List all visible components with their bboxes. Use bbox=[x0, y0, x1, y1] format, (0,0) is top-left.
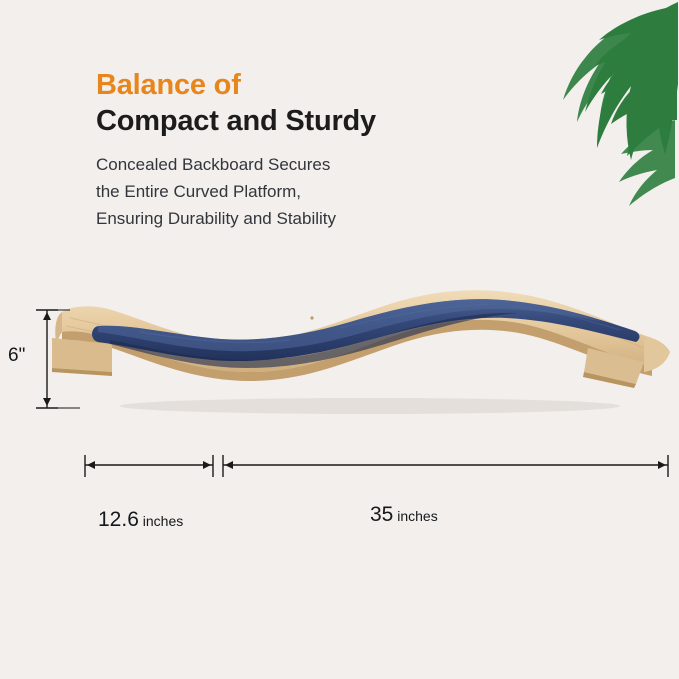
dimension-height-label: 6" bbox=[8, 345, 25, 367]
subheadline: Concealed Backboard Secures the Entire C… bbox=[96, 152, 516, 233]
dimension-depth-value: 12.6 bbox=[98, 508, 139, 531]
headline: Balance of Compact and Sturdy bbox=[96, 68, 526, 138]
dimension-depth-unit: inches bbox=[139, 513, 183, 529]
subheadline-line-2: the Entire Curved Platform, bbox=[96, 179, 516, 206]
subheadline-line-3: Ensuring Durability and Stability bbox=[96, 206, 516, 233]
headline-line-2: Compact and Sturdy bbox=[96, 104, 526, 138]
screw-icon bbox=[310, 316, 313, 319]
headline-line-1: Balance of bbox=[96, 68, 526, 102]
subheadline-line-1: Concealed Backboard Secures bbox=[96, 152, 516, 179]
dimension-width-unit: inches bbox=[393, 508, 437, 524]
dimension-depth-label: 12.6 inches bbox=[98, 508, 183, 532]
promo-image: Balance of Compact and Sturdy Concealed … bbox=[0, 0, 679, 679]
dimension-width-value: 35 bbox=[370, 503, 393, 526]
product-illustration bbox=[40, 280, 679, 430]
dimension-width-label: 35 inches bbox=[370, 503, 438, 527]
palm-leaf-icon bbox=[499, 0, 679, 250]
